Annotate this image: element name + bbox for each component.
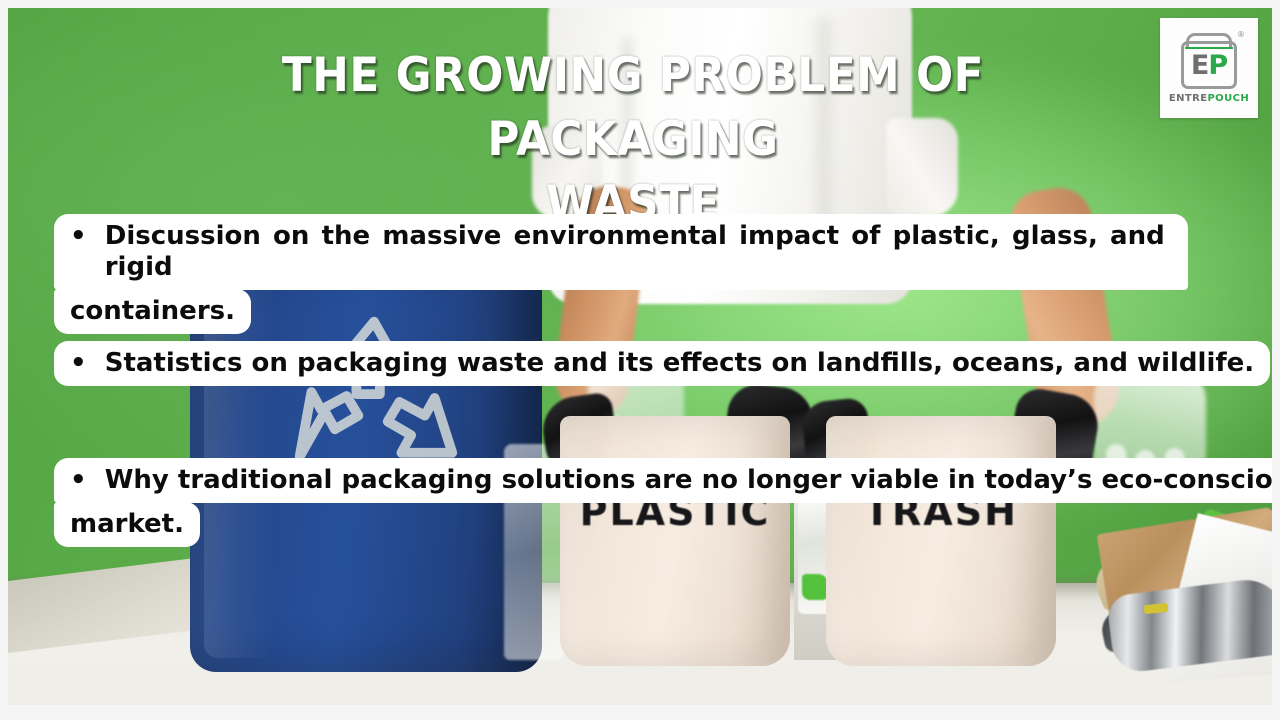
- bullet-marker: •: [70, 465, 87, 495]
- bullet-3-text-line-1: Why traditional packaging solutions are …: [105, 465, 1272, 495]
- bullet-2-line-1: • Statistics on packaging waste and its …: [54, 341, 1270, 386]
- pouch-logo-icon: ® EP: [1178, 32, 1240, 90]
- bullet-3-line-1: • Why traditional packaging solutions ar…: [54, 458, 1272, 503]
- green-waste-scrap: [802, 574, 828, 600]
- logo-wordmark-entre: ENTRE: [1169, 93, 1208, 104]
- bullet-1-line-1: • Discussion on the massive environmenta…: [54, 214, 1188, 290]
- bullet-item-2: • Statistics on packaging waste and its …: [54, 341, 1270, 386]
- page-title: THE GROWING PROBLEM OF PACKAGING WASTE: [191, 44, 1075, 236]
- bullet-marker: •: [70, 348, 87, 378]
- entrepouch-logo[interactable]: ® EP ENTREPOUCH: [1160, 18, 1258, 118]
- photo-frame: PLASTIC TRASH THE GROWING PROBLEM OF PAC…: [8, 8, 1272, 705]
- logo-initial-p: P: [1208, 50, 1227, 81]
- logo-initials: EP: [1178, 52, 1240, 79]
- slide-root: PLASTIC TRASH THE GROWING PROBLEM OF PAC…: [0, 0, 1280, 720]
- bullet-1-line-2: containers.: [54, 289, 251, 334]
- pouch-green-line: [1185, 47, 1233, 49]
- bullet-1-text-line-2: containers.: [70, 296, 235, 326]
- bullet-item-3: • Why traditional packaging solutions ar…: [54, 458, 1262, 547]
- logo-wordmark-pouch: POUCH: [1207, 93, 1249, 104]
- bullet-2-text: Statistics on packaging waste and its ef…: [105, 348, 1254, 378]
- bullet-3-text-line-2: market.: [70, 509, 184, 539]
- bullet-3-line-2: market.: [54, 502, 200, 547]
- bullet-1-text-line-1: Discussion on the massive environmental …: [105, 221, 1165, 283]
- registered-trademark-icon: ®: [1237, 30, 1245, 39]
- logo-initial-e: E: [1191, 50, 1208, 81]
- bullet-item-1: • Discussion on the massive environmenta…: [54, 214, 1188, 334]
- logo-wordmark: ENTREPOUCH: [1169, 93, 1249, 104]
- bullet-marker: •: [70, 221, 87, 251]
